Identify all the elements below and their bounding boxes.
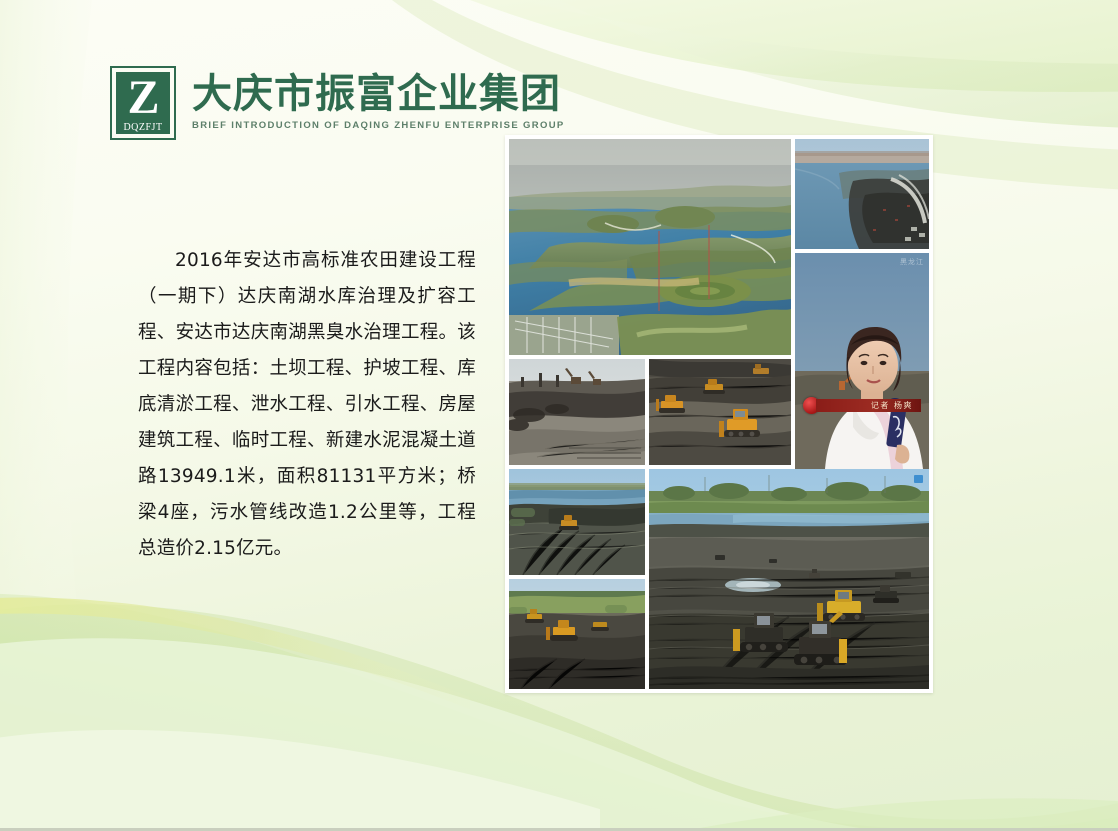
collage-photo-shoreline-aerial[interactable]: 湖岸清淤作业航拍: [795, 139, 929, 249]
company-logo: Z DQZFJT 大庆市振富企业集团 BRIEF INTRODUCTION OF…: [110, 66, 565, 140]
collage-photo-tv-reporter[interactable]: 黑龙江 记者 杨爽 电视台现场报道: [795, 253, 929, 469]
video-source-badge-icon: [914, 475, 923, 483]
aerial-shoreline-image: [795, 139, 929, 249]
collage-photo-dredging-channel[interactable]: 引水渠道清淤: [509, 469, 645, 575]
excavation-site-image: [509, 359, 645, 465]
collage-photo-main-worksite[interactable]: 南湖主施工区机械集群作业: [649, 469, 929, 689]
logo-text-block: 大庆市振富企业集团 BRIEF INTRODUCTION OF DAQING Z…: [192, 66, 565, 131]
large-worksite-panorama-image: [649, 469, 929, 689]
company-name-english: BRIEF INTRODUCTION OF DAQING ZHENFU ENTE…: [192, 120, 565, 131]
tv-chyron: 记者 杨爽: [803, 398, 921, 413]
logo-abbreviation: DQZFJT: [123, 123, 162, 133]
grassland-earthworks-image: [509, 579, 645, 689]
logo-mark-inner: Z DQZFJT: [116, 72, 170, 134]
photo-collage-grid: 南湖水库治理规划鸟瞰效果图: [509, 139, 929, 689]
photo-collage: 南湖水库治理规划鸟瞰效果图: [505, 135, 933, 693]
chyron-bar: 记者 杨爽: [816, 399, 921, 412]
chyron-reporter-name: 记者 杨爽: [871, 400, 913, 411]
logo-mark-icon: Z DQZFJT: [110, 66, 176, 140]
tv-news-still-image: [795, 253, 929, 469]
collage-photo-bulldozers-slope[interactable]: 推土机坡面作业: [649, 359, 791, 465]
tv-channel-watermark: 黑龙江: [900, 257, 924, 267]
company-name-chinese: 大庆市振富企业集团: [192, 74, 565, 115]
dredging-channel-image: [509, 469, 645, 575]
project-description-paragraph: 2016年安达市高标准农田建设工程（一期下）达庆南湖水库治理及扩容工程、安达市达…: [138, 243, 476, 567]
logo-letter-z: Z: [127, 74, 158, 122]
collage-photo-grassland-earthworks[interactable]: 草原段土方工程: [509, 579, 645, 689]
collage-photo-aerial-render[interactable]: 南湖水库治理规划鸟瞰效果图: [509, 139, 791, 355]
bulldozers-on-slope-image: [649, 359, 791, 465]
collage-photo-excavation-site[interactable]: 库底清淤开挖现场: [509, 359, 645, 465]
presentation-slide: Z DQZFJT 大庆市振富企业集团 BRIEF INTRODUCTION OF…: [0, 0, 1118, 831]
aerial-masterplan-render-image: [509, 139, 791, 355]
